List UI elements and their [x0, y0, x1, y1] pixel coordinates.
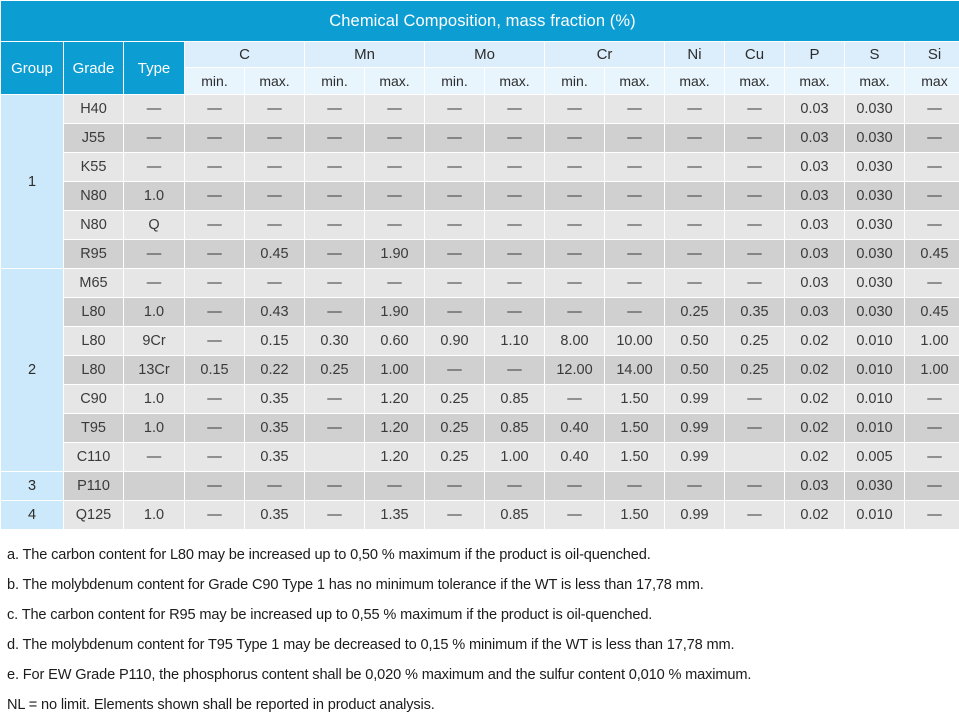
- value-cell: —: [725, 472, 784, 500]
- table-row: 3P110——————————0.030.030—: [1, 472, 959, 500]
- value-cell: 0.85: [485, 501, 544, 529]
- value-cell: 0.25: [425, 414, 484, 442]
- value-cell: 10.00: [605, 327, 664, 355]
- type-cell: 13Cr: [124, 356, 184, 384]
- table-row: N801.0——————————0.030.030—: [1, 182, 959, 210]
- value-cell: 0.03: [785, 153, 844, 181]
- value-cell: —: [365, 269, 424, 297]
- value-cell: 0.02: [785, 443, 844, 471]
- subheader-cu-max: max.: [725, 68, 784, 94]
- value-cell: 0.25: [305, 356, 364, 384]
- element-header-s: S: [845, 42, 904, 67]
- grade-cell: H40: [64, 95, 123, 123]
- grade-cell: L80: [64, 327, 123, 355]
- value-cell: —: [905, 414, 959, 442]
- col-header-grade: Grade: [64, 42, 123, 94]
- value-cell: —: [245, 472, 304, 500]
- element-header-ni: Ni: [665, 42, 724, 67]
- value-cell: —: [605, 124, 664, 152]
- value-cell: 0.02: [785, 356, 844, 384]
- value-cell: 0.43: [245, 298, 304, 326]
- value-cell: —: [425, 356, 484, 384]
- value-cell: —: [425, 501, 484, 529]
- value-cell: —: [605, 298, 664, 326]
- grade-cell: Q125: [64, 501, 123, 529]
- table-row: L801.0—0.43—1.90————0.250.350.030.0300.4…: [1, 298, 959, 326]
- subheader-si-max: max: [905, 68, 959, 94]
- value-cell: 0.35: [245, 385, 304, 413]
- value-cell: 0.03: [785, 182, 844, 210]
- value-cell: —: [425, 153, 484, 181]
- value-cell: —: [305, 269, 364, 297]
- value-cell: —: [545, 124, 604, 152]
- value-cell: 1.50: [605, 414, 664, 442]
- value-cell: 0.02: [785, 414, 844, 442]
- value-cell: —: [185, 124, 244, 152]
- footnote: c. The carbon content for R95 may be inc…: [7, 600, 959, 630]
- grade-cell: L80: [64, 298, 123, 326]
- value-cell: —: [725, 211, 784, 239]
- value-cell: —: [185, 327, 244, 355]
- value-cell: 0.010: [845, 356, 904, 384]
- value-cell: —: [185, 95, 244, 123]
- value-cell: 0.030: [845, 240, 904, 268]
- value-cell: —: [245, 124, 304, 152]
- subheader-s-max: max.: [845, 68, 904, 94]
- group-cell: 2: [1, 269, 63, 471]
- grade-cell: T95: [64, 414, 123, 442]
- value-cell: —: [365, 472, 424, 500]
- value-cell: —: [305, 298, 364, 326]
- value-cell: —: [905, 501, 959, 529]
- value-cell: 1.00: [365, 356, 424, 384]
- value-cell: —: [725, 240, 784, 268]
- grade-cell: M65: [64, 269, 123, 297]
- value-cell: [725, 443, 784, 471]
- value-cell: —: [365, 95, 424, 123]
- value-cell: —: [905, 211, 959, 239]
- value-cell: —: [605, 211, 664, 239]
- value-cell: 0.010: [845, 327, 904, 355]
- value-cell: —: [425, 211, 484, 239]
- value-cell: 0.99: [665, 443, 724, 471]
- value-cell: 0.030: [845, 472, 904, 500]
- type-cell: 1.0: [124, 414, 184, 442]
- value-cell: —: [725, 385, 784, 413]
- type-cell: —: [124, 124, 184, 152]
- value-cell: 0.15: [245, 327, 304, 355]
- grade-cell: C110: [64, 443, 123, 471]
- value-cell: —: [365, 153, 424, 181]
- footnote: b. The molybdenum content for Grade C90 …: [7, 570, 959, 600]
- value-cell: 1.20: [365, 443, 424, 471]
- value-cell: —: [665, 153, 724, 181]
- type-cell: —: [124, 443, 184, 471]
- value-cell: 1.00: [905, 327, 959, 355]
- value-cell: —: [905, 182, 959, 210]
- subheader-c-max: max.: [245, 68, 304, 94]
- value-cell: —: [305, 240, 364, 268]
- value-cell: —: [485, 182, 544, 210]
- value-cell: —: [425, 240, 484, 268]
- value-cell: —: [305, 95, 364, 123]
- value-cell: 8.00: [545, 327, 604, 355]
- value-cell: —: [605, 95, 664, 123]
- col-header-group: Group: [1, 42, 63, 94]
- value-cell: —: [665, 211, 724, 239]
- value-cell: 0.03: [785, 298, 844, 326]
- chemical-composition-sheet: Chemical Composition, mass fraction (%) …: [0, 0, 959, 718]
- table-title-row: Chemical Composition, mass fraction (%): [1, 1, 959, 41]
- table-row: R95——0.45—1.90——————0.030.0300.45: [1, 240, 959, 268]
- table-row: C901.0—0.35—1.200.250.85—1.500.99—0.020.…: [1, 385, 959, 413]
- value-cell: —: [665, 182, 724, 210]
- value-cell: —: [605, 153, 664, 181]
- value-cell: 0.02: [785, 501, 844, 529]
- value-cell: —: [545, 385, 604, 413]
- value-cell: —: [905, 472, 959, 500]
- value-cell: —: [485, 240, 544, 268]
- value-cell: 0.45: [905, 298, 959, 326]
- value-cell: [305, 443, 364, 471]
- type-cell: —: [124, 240, 184, 268]
- value-cell: —: [425, 182, 484, 210]
- value-cell: —: [425, 95, 484, 123]
- value-cell: 0.03: [785, 269, 844, 297]
- value-cell: —: [725, 153, 784, 181]
- value-cell: 1.20: [365, 414, 424, 442]
- value-cell: —: [485, 95, 544, 123]
- table-header: Chemical Composition, mass fraction (%) …: [1, 1, 959, 94]
- value-cell: 0.010: [845, 501, 904, 529]
- value-cell: —: [905, 124, 959, 152]
- value-cell: 0.03: [785, 95, 844, 123]
- value-cell: —: [485, 298, 544, 326]
- value-cell: 0.35: [245, 414, 304, 442]
- table-body: 1H40———————————0.030.030—J55———————————0…: [1, 95, 959, 529]
- value-cell: —: [425, 269, 484, 297]
- value-cell: —: [305, 124, 364, 152]
- value-cell: —: [605, 472, 664, 500]
- footnotes: a. The carbon content for L80 may be inc…: [0, 540, 959, 720]
- value-cell: —: [185, 182, 244, 210]
- value-cell: —: [725, 182, 784, 210]
- value-cell: —: [665, 240, 724, 268]
- table-title: Chemical Composition, mass fraction (%): [1, 1, 959, 41]
- value-cell: —: [245, 211, 304, 239]
- value-cell: —: [305, 211, 364, 239]
- value-cell: —: [305, 472, 364, 500]
- subheader-ni-max: max.: [665, 68, 724, 94]
- value-cell: —: [545, 240, 604, 268]
- value-cell: —: [425, 124, 484, 152]
- table-row: K55———————————0.030.030—: [1, 153, 959, 181]
- value-cell: 1.35: [365, 501, 424, 529]
- value-cell: —: [485, 124, 544, 152]
- value-cell: —: [185, 472, 244, 500]
- chemical-composition-table: Chemical Composition, mass fraction (%) …: [0, 0, 959, 530]
- group-cell: 1: [1, 95, 63, 268]
- value-cell: —: [305, 414, 364, 442]
- value-cell: —: [665, 95, 724, 123]
- value-cell: 0.25: [425, 385, 484, 413]
- subheader-mn-min: min.: [305, 68, 364, 94]
- value-cell: —: [905, 443, 959, 471]
- value-cell: —: [605, 269, 664, 297]
- value-cell: —: [665, 472, 724, 500]
- value-cell: 0.03: [785, 124, 844, 152]
- value-cell: 0.35: [245, 501, 304, 529]
- value-cell: 1.50: [605, 385, 664, 413]
- grade-cell: P110: [64, 472, 123, 500]
- value-cell: —: [665, 124, 724, 152]
- value-cell: 0.35: [245, 443, 304, 471]
- footnote: e. For EW Grade P110, the phosphorus con…: [7, 660, 959, 690]
- value-cell: —: [185, 298, 244, 326]
- table-row: L809Cr—0.150.300.600.901.108.0010.000.50…: [1, 327, 959, 355]
- value-cell: —: [485, 211, 544, 239]
- type-cell: 1.0: [124, 182, 184, 210]
- value-cell: 0.010: [845, 385, 904, 413]
- value-cell: —: [485, 356, 544, 384]
- value-cell: —: [425, 472, 484, 500]
- value-cell: —: [185, 385, 244, 413]
- value-cell: 1.90: [365, 298, 424, 326]
- value-cell: —: [245, 269, 304, 297]
- value-cell: 0.02: [785, 327, 844, 355]
- value-cell: 0.25: [665, 298, 724, 326]
- value-cell: —: [185, 443, 244, 471]
- value-cell: 0.99: [665, 414, 724, 442]
- element-header-mo: Mo: [425, 42, 544, 67]
- value-cell: 12.00: [545, 356, 604, 384]
- value-cell: —: [365, 211, 424, 239]
- value-cell: —: [725, 414, 784, 442]
- value-cell: 0.03: [785, 240, 844, 268]
- value-cell: —: [485, 153, 544, 181]
- value-cell: —: [725, 124, 784, 152]
- value-cell: 0.030: [845, 182, 904, 210]
- element-header-cr: Cr: [545, 42, 664, 67]
- subheader-mo-min: min.: [425, 68, 484, 94]
- group-cell: 3: [1, 472, 63, 500]
- type-cell: 9Cr: [124, 327, 184, 355]
- value-cell: 0.22: [245, 356, 304, 384]
- value-cell: 0.50: [665, 356, 724, 384]
- grade-cell: R95: [64, 240, 123, 268]
- value-cell: 0.030: [845, 153, 904, 181]
- element-header-cu: Cu: [725, 42, 784, 67]
- table-row: N80Q——————————0.030.030—: [1, 211, 959, 239]
- table-row: L8013Cr0.150.220.251.00——12.0014.000.500…: [1, 356, 959, 384]
- value-cell: —: [905, 95, 959, 123]
- value-cell: 0.030: [845, 124, 904, 152]
- table-row: C110——0.351.200.251.000.401.500.990.020.…: [1, 443, 959, 471]
- value-cell: 0.45: [905, 240, 959, 268]
- value-cell: —: [185, 501, 244, 529]
- value-cell: 1.10: [485, 327, 544, 355]
- value-cell: 0.99: [665, 501, 724, 529]
- value-cell: —: [545, 472, 604, 500]
- value-cell: —: [365, 182, 424, 210]
- type-cell: Q: [124, 211, 184, 239]
- type-cell: —: [124, 269, 184, 297]
- table-row: 1H40———————————0.030.030—: [1, 95, 959, 123]
- subheader-mn-max: max.: [365, 68, 424, 94]
- value-cell: 0.03: [785, 211, 844, 239]
- value-cell: 0.010: [845, 414, 904, 442]
- value-cell: 1.00: [905, 356, 959, 384]
- value-cell: —: [905, 385, 959, 413]
- value-cell: —: [905, 269, 959, 297]
- type-cell: 1.0: [124, 385, 184, 413]
- value-cell: —: [185, 153, 244, 181]
- element-header-mn: Mn: [305, 42, 424, 67]
- value-cell: 0.50: [665, 327, 724, 355]
- value-cell: 0.85: [485, 385, 544, 413]
- table-row: T951.0—0.35—1.200.250.850.401.500.99—0.0…: [1, 414, 959, 442]
- value-cell: —: [485, 269, 544, 297]
- subheader-c-min: min.: [185, 68, 244, 94]
- type-cell: —: [124, 153, 184, 181]
- value-cell: —: [725, 269, 784, 297]
- value-cell: 0.45: [245, 240, 304, 268]
- value-cell: 0.25: [725, 327, 784, 355]
- value-cell: —: [545, 211, 604, 239]
- value-cell: 0.40: [545, 414, 604, 442]
- value-cell: —: [605, 240, 664, 268]
- value-cell: 0.30: [305, 327, 364, 355]
- element-header-p: P: [785, 42, 844, 67]
- value-cell: —: [185, 414, 244, 442]
- subheader-mo-max: max.: [485, 68, 544, 94]
- value-cell: —: [185, 269, 244, 297]
- value-cell: —: [245, 95, 304, 123]
- value-cell: 1.20: [365, 385, 424, 413]
- value-cell: —: [545, 95, 604, 123]
- value-cell: 0.35: [725, 298, 784, 326]
- grade-cell: K55: [64, 153, 123, 181]
- value-cell: 0.90: [425, 327, 484, 355]
- grade-cell: J55: [64, 124, 123, 152]
- element-header-c: C: [185, 42, 304, 67]
- group-cell: 4: [1, 501, 63, 529]
- value-cell: —: [485, 472, 544, 500]
- value-cell: 1.90: [365, 240, 424, 268]
- footnote: d. The molybdenum content for T95 Type 1…: [7, 630, 959, 660]
- value-cell: —: [305, 385, 364, 413]
- grade-cell: L80: [64, 356, 123, 384]
- value-cell: 0.25: [725, 356, 784, 384]
- value-cell: 0.030: [845, 95, 904, 123]
- value-cell: —: [725, 95, 784, 123]
- value-cell: 0.15: [185, 356, 244, 384]
- value-cell: —: [545, 153, 604, 181]
- value-cell: —: [725, 501, 784, 529]
- value-cell: 0.85: [485, 414, 544, 442]
- footnote: NL = no limit. Elements shown shall be r…: [7, 690, 959, 720]
- value-cell: —: [185, 211, 244, 239]
- value-cell: —: [545, 182, 604, 210]
- grade-cell: C90: [64, 385, 123, 413]
- value-cell: —: [905, 153, 959, 181]
- value-cell: —: [185, 240, 244, 268]
- type-cell: —: [124, 95, 184, 123]
- value-cell: 0.02: [785, 385, 844, 413]
- value-cell: —: [245, 182, 304, 210]
- value-cell: 0.60: [365, 327, 424, 355]
- table-row: J55———————————0.030.030—: [1, 124, 959, 152]
- element-header-si: Si: [905, 42, 959, 67]
- value-cell: 1.50: [605, 501, 664, 529]
- value-cell: —: [365, 124, 424, 152]
- value-cell: 0.40: [545, 443, 604, 471]
- value-cell: 0.25: [425, 443, 484, 471]
- value-cell: 1.50: [605, 443, 664, 471]
- subheader-cr-max: max.: [605, 68, 664, 94]
- grade-cell: N80: [64, 182, 123, 210]
- value-cell: —: [605, 182, 664, 210]
- value-cell: 0.030: [845, 211, 904, 239]
- value-cell: —: [305, 153, 364, 181]
- value-cell: —: [545, 298, 604, 326]
- type-cell: 1.0: [124, 298, 184, 326]
- value-cell: 0.030: [845, 269, 904, 297]
- value-cell: 0.005: [845, 443, 904, 471]
- value-cell: —: [305, 501, 364, 529]
- value-cell: —: [425, 298, 484, 326]
- value-cell: 14.00: [605, 356, 664, 384]
- value-cell: —: [305, 182, 364, 210]
- value-cell: 0.030: [845, 298, 904, 326]
- subheader-cr-min: min.: [545, 68, 604, 94]
- value-cell: —: [245, 153, 304, 181]
- grade-cell: N80: [64, 211, 123, 239]
- value-cell: —: [545, 269, 604, 297]
- value-cell: 1.00: [485, 443, 544, 471]
- subheader-p-max: max.: [785, 68, 844, 94]
- value-cell: 0.99: [665, 385, 724, 413]
- type-cell: [124, 472, 184, 500]
- value-cell: —: [665, 269, 724, 297]
- value-cell: 0.03: [785, 472, 844, 500]
- footnote: a. The carbon content for L80 may be inc…: [7, 540, 959, 570]
- value-cell: —: [545, 501, 604, 529]
- table-row: 4Q1251.0—0.35—1.35—0.85—1.500.99—0.020.0…: [1, 501, 959, 529]
- element-header-row: Group Grade Type C Mn Mo Cr Ni Cu P S Si: [1, 42, 959, 67]
- col-header-type: Type: [124, 42, 184, 94]
- type-cell: 1.0: [124, 501, 184, 529]
- table-row: 2M65———————————0.030.030—: [1, 269, 959, 297]
